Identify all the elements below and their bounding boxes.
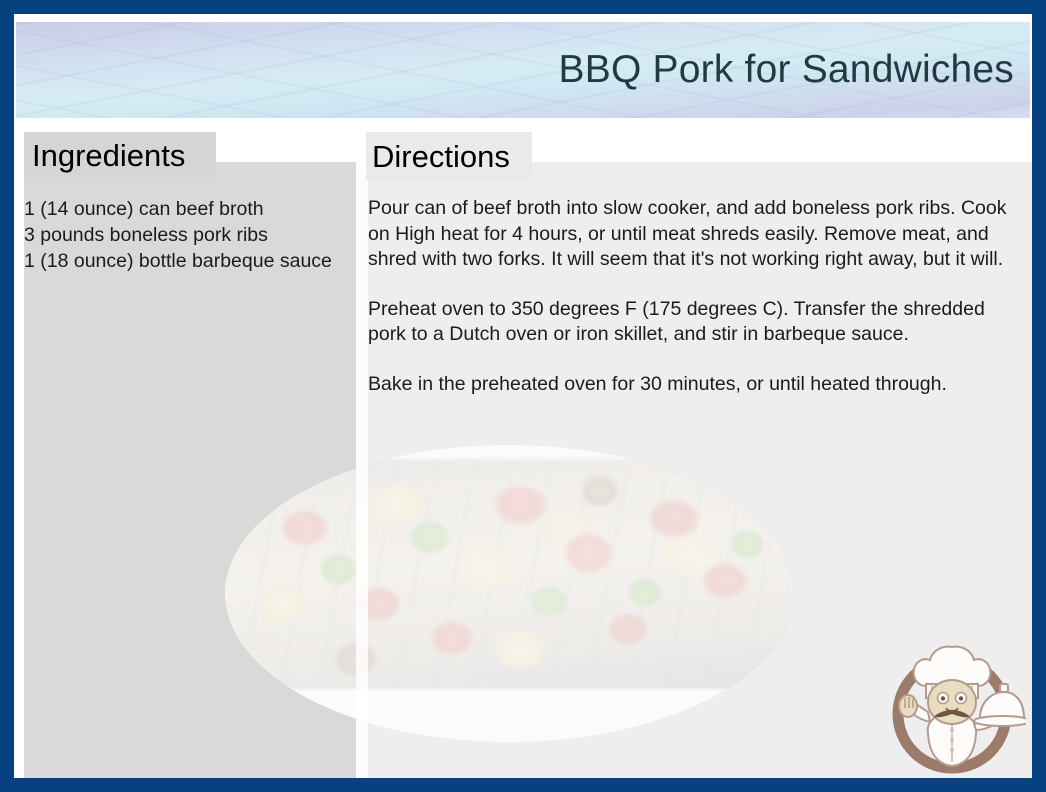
slide-content-area: BBQ Pork for Sandwiches Ingredients 1 (1… [14,14,1032,778]
ingredients-list: 1 (14 ounce) can beef broth 3 pounds bon… [24,196,336,274]
grilled-kebabs-photo [225,445,793,742]
chef-face [928,680,976,724]
header-banner: BBQ Pork for Sandwiches [16,22,1030,118]
directions-body: Pour can of beef broth into slow cooker,… [368,196,1012,397]
list-item: 1 (14 ounce) can beef broth [24,196,336,222]
ingredients-heading: Ingredients [32,138,185,174]
list-item: 1 (18 ounce) bottle barbeque sauce [24,248,336,274]
recipe-slide: BBQ Pork for Sandwiches Ingredients 1 (1… [0,0,1046,792]
column-gutter [356,162,368,778]
page-title: BBQ Pork for Sandwiches [559,48,1014,92]
list-item: 3 pounds boneless pork ribs [24,222,336,248]
serving-cloche-icon [974,684,1026,726]
direction-paragraph: Pour can of beef broth into slow cooker,… [368,196,1012,273]
kebabs-image-content [225,459,793,689]
direction-paragraph: Preheat oven to 350 degrees F (175 degre… [368,297,1012,348]
left-margin-strip [14,14,24,778]
directions-heading: Directions [372,138,510,176]
chef-mascot-logo [878,626,1026,778]
direction-paragraph: Bake in the preheated oven for 30 minute… [368,372,1012,398]
